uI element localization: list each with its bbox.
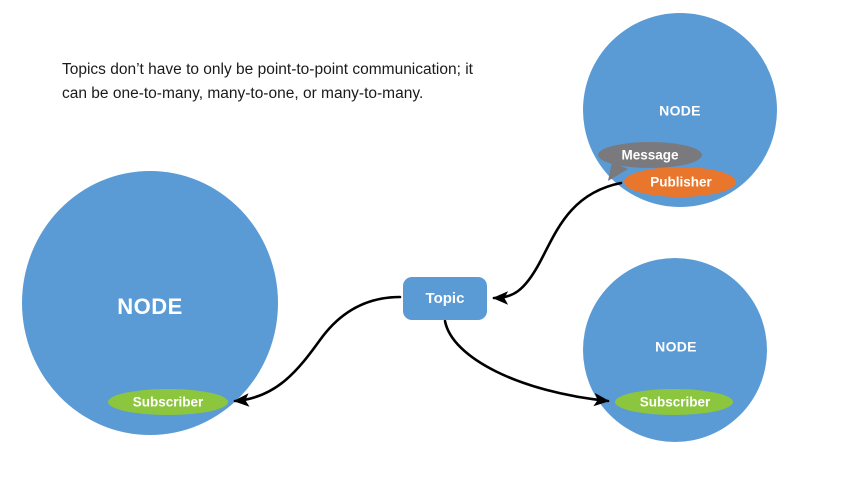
edge-topic-to-subscriber-bottom-right (445, 321, 608, 401)
node-left-label: NODE (117, 294, 183, 319)
edge-publisher-to-topic (494, 183, 621, 298)
publisher-pill[interactable]: Publisher (624, 167, 736, 197)
subscriber-bottom-right-pill[interactable]: Subscriber (615, 389, 733, 415)
node-top-right-label: NODE (659, 103, 701, 119)
publisher-pill-label: Publisher (650, 175, 712, 190)
subscriber-left-pill-label: Subscriber (133, 395, 204, 410)
diagram-canvas: NODE NODE NODE Message Publisher (0, 0, 854, 480)
topic-box[interactable]: Topic (403, 277, 487, 320)
caption-text: Topics don’t have to only be point-to-po… (62, 58, 482, 106)
subscriber-bottom-right-pill-label: Subscriber (640, 395, 711, 410)
subscriber-left-pill[interactable]: Subscriber (108, 389, 228, 415)
topic-box-label: Topic (426, 290, 465, 307)
message-bubble-label: Message (621, 148, 679, 163)
node-bottom-right-label: NODE (655, 339, 697, 355)
